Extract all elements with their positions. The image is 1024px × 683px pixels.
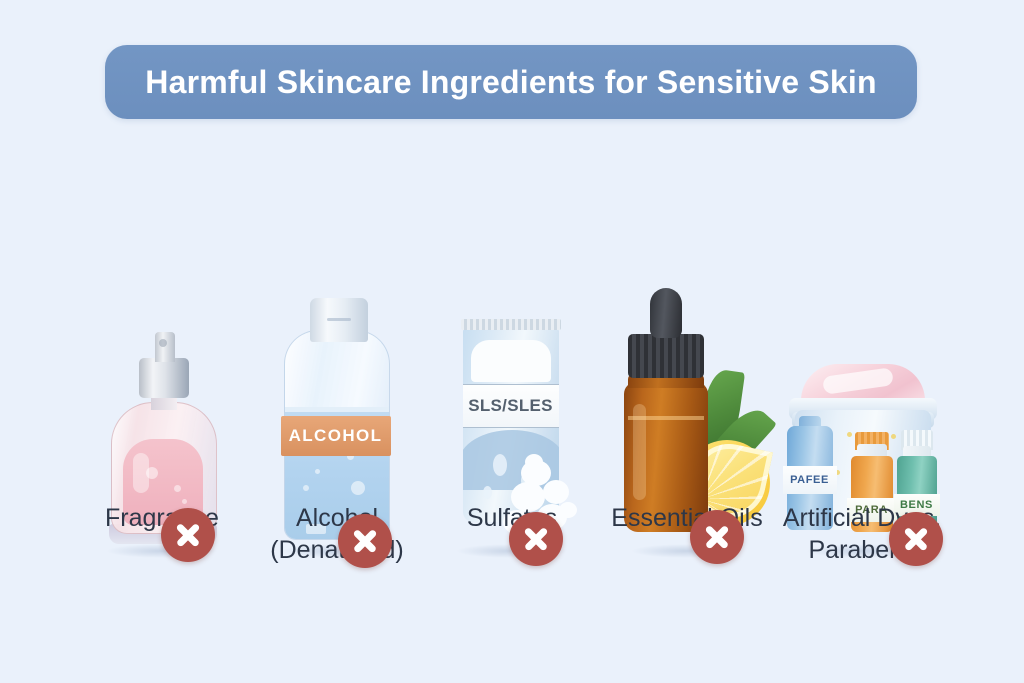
dropper-cap <box>628 334 704 378</box>
alcohol-label-band: ALCOHOL <box>281 416 391 456</box>
foam-bubble-icon <box>525 454 543 470</box>
bubble-icon <box>351 481 365 495</box>
blue-bottle-label: PAFEE <box>783 466 837 494</box>
x-mark-icon <box>338 514 392 568</box>
ingredient-item-dyes-parabens: PAFEE PARA BENS Artificial Dyes, Paraben… <box>775 170 950 570</box>
alcohol-bottle-cap <box>310 298 368 342</box>
foam-bubble-icon <box>543 480 569 504</box>
bubble-icon <box>146 467 158 479</box>
x-mark-icon <box>690 510 744 564</box>
page-title-bar: Harmful Skincare Ingredients for Sensiti… <box>105 45 917 119</box>
speck-icon <box>891 434 896 439</box>
ingredient-caption: Alcohol (Denatured) <box>245 502 430 566</box>
bubble-icon <box>174 485 181 492</box>
x-mark-icon <box>889 512 943 566</box>
ingredient-item-alcohol: ALCOHOL Alcohol (Denatured) <box>250 170 425 570</box>
perfume-spray-collar <box>139 358 189 398</box>
tube-crimp-seal <box>461 319 561 330</box>
ingredient-list: Fragrance ALCOHOL Alc <box>0 170 1024 570</box>
alcohol-label-text: ALCOHOL <box>289 426 383 446</box>
dropper-bulb-icon <box>650 288 682 338</box>
ingredient-caption: Essential Oils <box>595 502 780 534</box>
speck-icon <box>847 432 852 437</box>
droplet-icon <box>483 486 492 499</box>
bubble-icon <box>315 469 320 474</box>
sulfates-label-text: SLS/SLES <box>468 396 553 416</box>
x-mark-icon <box>161 508 215 562</box>
ingredient-item-fragrance: Fragrance <box>75 170 250 570</box>
bubble-icon <box>303 485 309 491</box>
sulfates-label-band: SLS/SLES <box>463 384 559 428</box>
droplet-icon <box>493 454 507 476</box>
page-title: Harmful Skincare Ingredients for Sensiti… <box>145 64 876 101</box>
x-mark-icon <box>509 512 563 566</box>
ingredient-item-essential-oils: Essential Oils <box>600 170 775 570</box>
oil-level-line <box>628 416 704 420</box>
tube-white-panel <box>471 340 551 382</box>
blue-bottle-label-text: PAFEE <box>790 474 829 486</box>
perfume-spray-nozzle-icon <box>155 332 175 362</box>
ingredient-item-sulfates: SLS/SLES Sulfates <box>425 170 600 570</box>
